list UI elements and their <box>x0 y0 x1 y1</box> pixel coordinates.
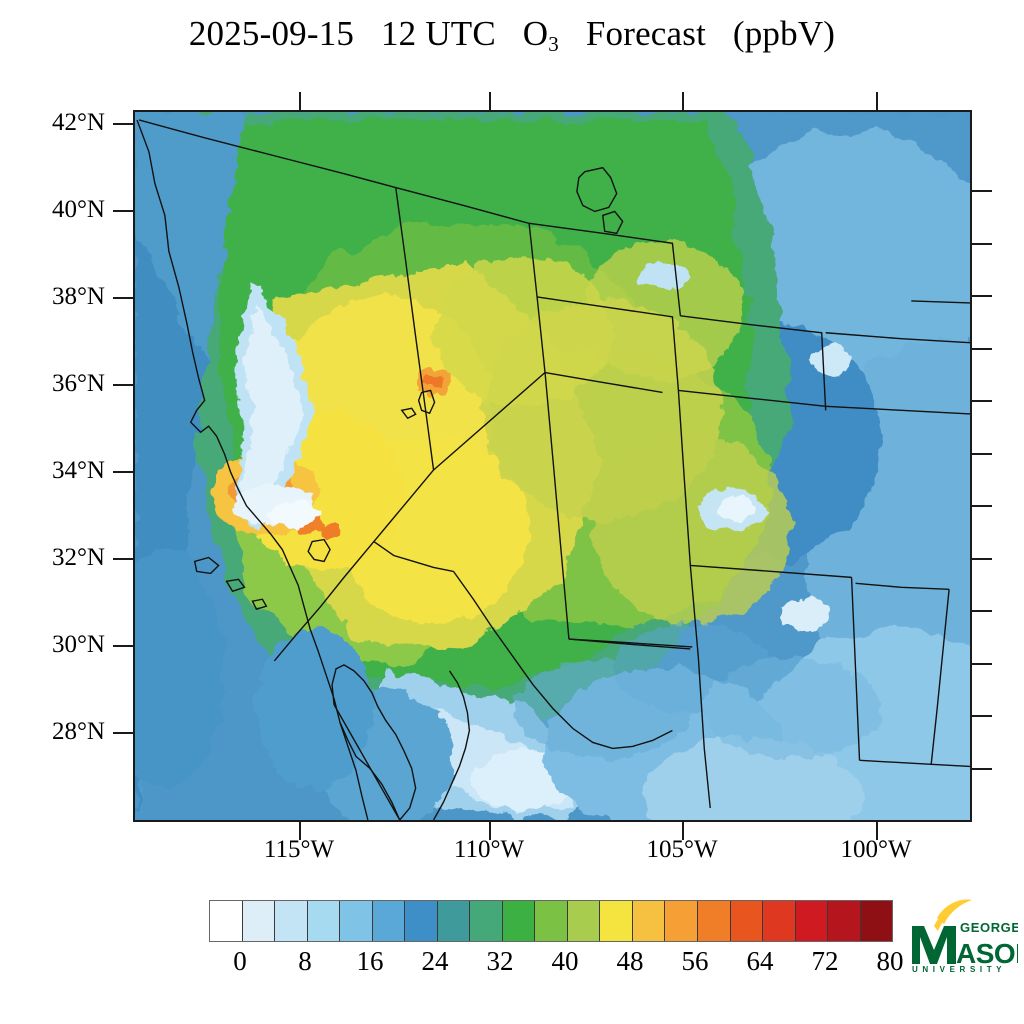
forecast-map-figure: 2025-09-15 12 UTC O3 Forecast (ppbV) <box>0 0 1024 1024</box>
tick-right-10 <box>972 663 992 665</box>
tick-lat-32 <box>113 558 133 560</box>
tick-lat-34 <box>113 471 133 473</box>
tick-right-6 <box>972 453 992 455</box>
tick-right-1 <box>972 190 992 192</box>
axis-label-lat-38: 38°N <box>0 283 105 311</box>
axis-label-lon-115w: 115°W <box>219 836 379 864</box>
tick-right-7 <box>972 505 992 507</box>
tick-top-115w <box>299 92 301 110</box>
tick-top-100w <box>876 92 878 110</box>
colorbar-cell-16 <box>731 901 764 941</box>
colorbar-cell-4 <box>340 901 373 941</box>
colorbar-cell-1 <box>243 901 276 941</box>
title-species: O <box>523 14 548 53</box>
tick-right-4 <box>972 348 992 350</box>
colorbar-cell-17 <box>763 901 796 941</box>
title-units: (ppbV) <box>733 14 835 53</box>
axis-label-lat-30: 30°N <box>0 631 105 659</box>
tick-right-2 <box>972 243 992 245</box>
axis-label-lat-32: 32°N <box>0 544 105 572</box>
axis-label-lon-110w: 110°W <box>409 836 569 864</box>
axis-label-lat-36: 36°N <box>0 370 105 398</box>
title-species-subscript: 3 <box>548 32 559 56</box>
axis-label-lat-28: 28°N <box>0 718 105 746</box>
tick-right-9 <box>972 610 992 612</box>
page-title: 2025-09-15 12 UTC O3 Forecast (ppbV) <box>0 14 1024 54</box>
tick-right-5 <box>972 400 992 402</box>
colorbar-cell-20 <box>861 901 893 941</box>
tick-right-8 <box>972 558 992 560</box>
letter-m <box>912 926 956 964</box>
tick-lat-38 <box>113 297 133 299</box>
tick-top-110w <box>489 92 491 110</box>
axis-label-lon-105w: 105°W <box>602 836 762 864</box>
tick-lat-40 <box>113 210 133 212</box>
title-date: 2025-09-15 <box>189 14 354 53</box>
colorbar-cell-6 <box>405 901 438 941</box>
tick-right-12 <box>972 768 992 770</box>
title-time: 12 UTC <box>381 14 496 53</box>
logo-line-university: U N I V E R S I T Y <box>912 965 1003 972</box>
colorbar-cell-10 <box>535 901 568 941</box>
colorbar-cell-3 <box>308 901 341 941</box>
colorbar-cell-8 <box>470 901 503 941</box>
gmu-logo-svg: GEORGE ASON U N I V E R S I T Y <box>906 896 1018 972</box>
colorbar-cell-18 <box>796 901 829 941</box>
colorbar-cell-0 <box>210 901 243 941</box>
colorbar[interactable] <box>209 900 893 942</box>
colorbar-cell-15 <box>698 901 731 941</box>
tick-top-105w <box>682 92 684 110</box>
tick-lat-42 <box>113 123 133 125</box>
tick-lat-36 <box>113 384 133 386</box>
colorbar-cell-7 <box>438 901 471 941</box>
tick-right-3 <box>972 295 992 297</box>
axis-label-lat-40: 40°N <box>0 196 105 224</box>
gmu-logo: GEORGE ASON U N I V E R S I T Y <box>906 896 1018 972</box>
logo-line-georgetext: GEORGE <box>960 920 1018 935</box>
map-plot-area[interactable] <box>133 110 972 822</box>
axis-label-lat-34: 34°N <box>0 457 105 485</box>
colorbar-cell-11 <box>568 901 601 941</box>
tick-lat-30 <box>113 645 133 647</box>
colorbar-cell-2 <box>275 901 308 941</box>
colorbar-cell-12 <box>600 901 633 941</box>
colorbar-cell-13 <box>633 901 666 941</box>
tick-right-11 <box>972 715 992 717</box>
ozone-field-map <box>135 112 970 820</box>
tick-lat-28 <box>113 732 133 734</box>
colorbar-cell-5 <box>373 901 406 941</box>
colorbar-cell-9 <box>503 901 536 941</box>
title-kind: Forecast <box>586 14 706 53</box>
axis-label-lon-100w: 100°W <box>796 836 956 864</box>
axis-label-lat-42: 42°N <box>0 109 105 137</box>
colorbar-cell-14 <box>665 901 698 941</box>
colorbar-cell-19 <box>828 901 861 941</box>
